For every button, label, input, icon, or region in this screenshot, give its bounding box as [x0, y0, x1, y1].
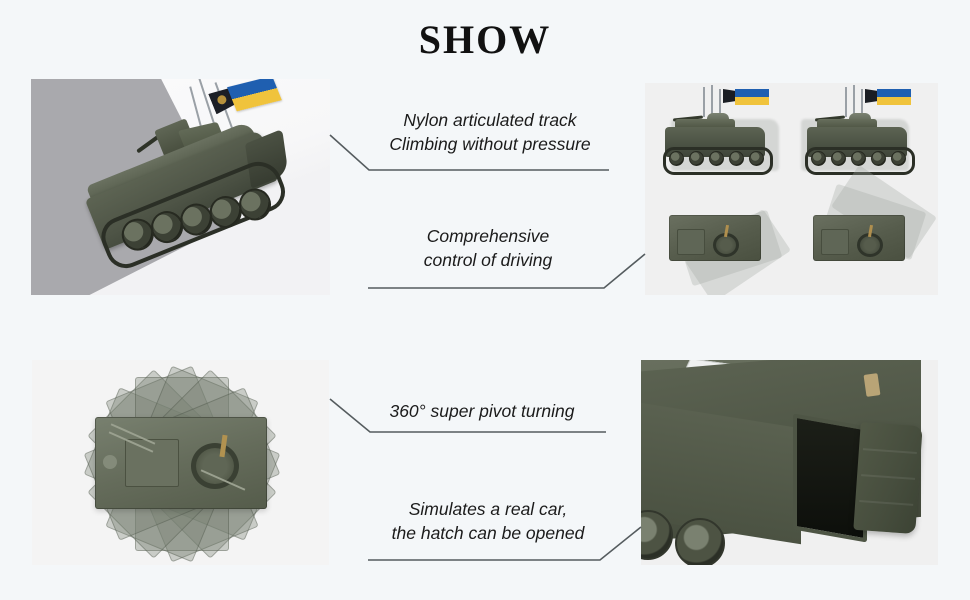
show-feature-page: SHOW [0, 0, 970, 600]
connector-path [368, 527, 641, 560]
connector-line-hatch-opens [0, 0, 970, 600]
